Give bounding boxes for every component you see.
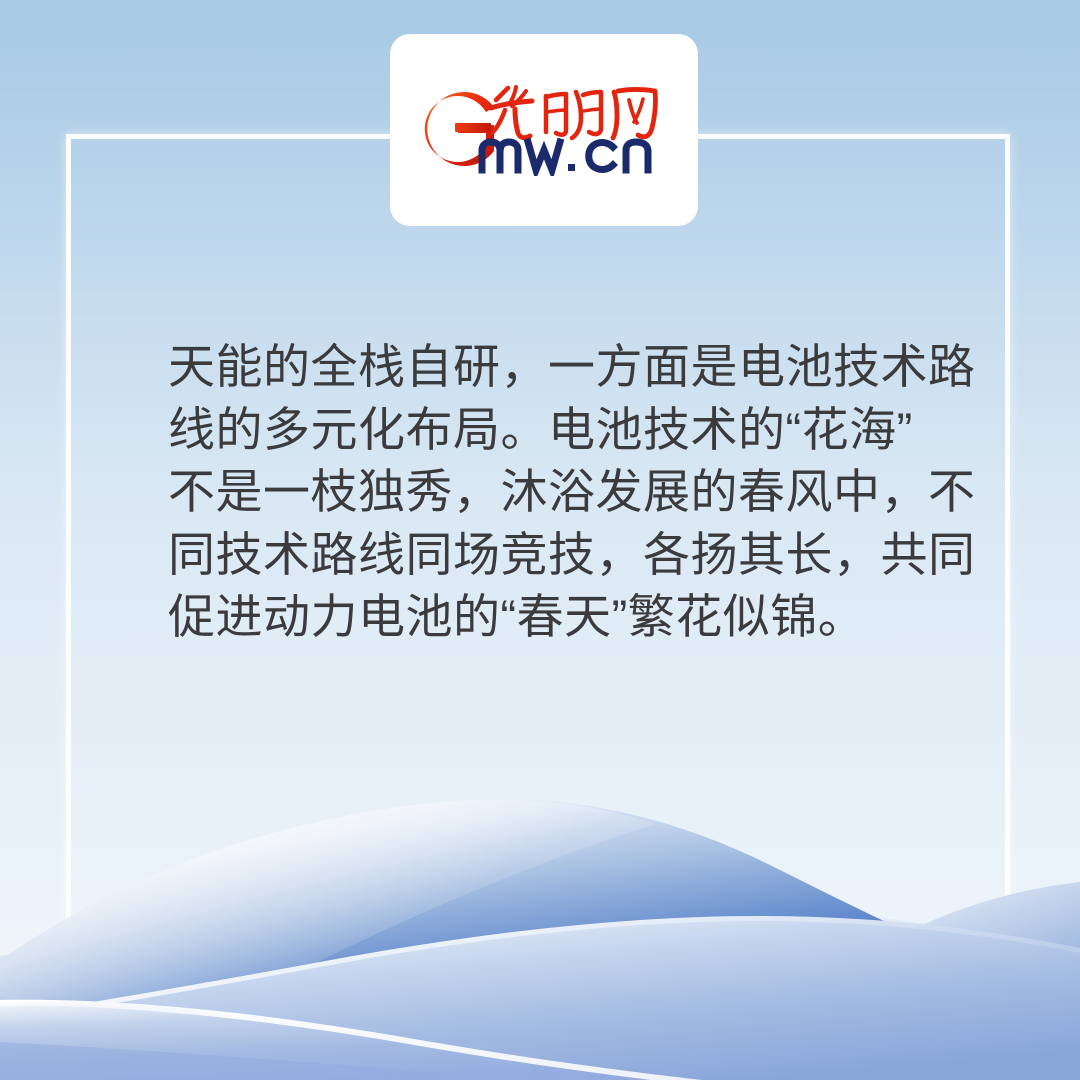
dune-path-front xyxy=(0,1000,1080,1080)
quote-line: 同技术路线同场竞技，各扬其长，共同 xyxy=(168,524,944,587)
logo-wrap xyxy=(424,82,664,178)
poster-canvas: 天能的全栈自研，一方面是电池技术路 线的多元化布局。电池技术的“花海” 不是一枝… xyxy=(0,0,1080,1080)
quote-line: 不是一枝独秀，沐浴发展的春风中，不 xyxy=(168,461,944,524)
quote-line: 线的多元化布局。电池技术的“花海” xyxy=(168,399,944,462)
quote-line: 促进动力电池的“春天”繁花似锦。 xyxy=(168,586,944,649)
dune-path-front-upper xyxy=(0,1002,1080,1080)
quote-line: 天能的全栈自研，一方面是电池技术路 xyxy=(168,336,944,399)
guangming-wang-logo-card[interactable] xyxy=(390,34,698,226)
dune-crest-front xyxy=(0,1000,1080,1080)
quote-text-block: 天能的全栈自研，一方面是电池技术路 线的多元化布局。电池技术的“花海” 不是一枝… xyxy=(168,336,944,649)
dune-path-base xyxy=(0,1042,1080,1080)
logo-latin-wordmark-icon xyxy=(476,134,664,176)
